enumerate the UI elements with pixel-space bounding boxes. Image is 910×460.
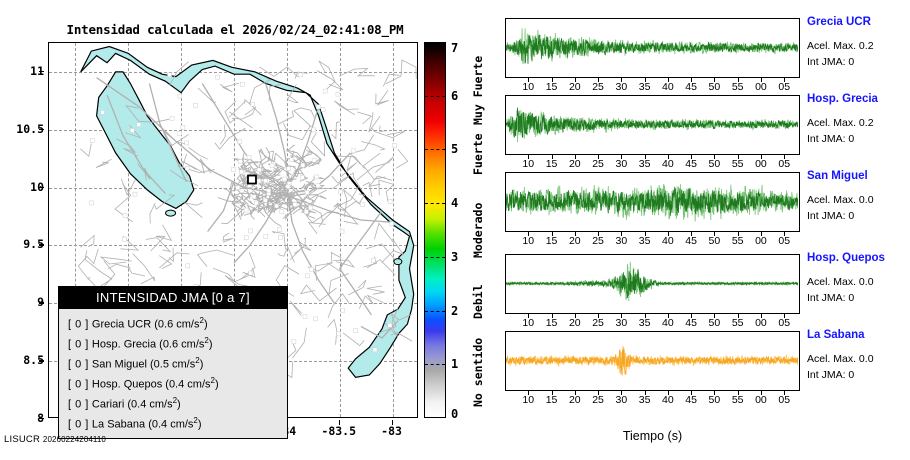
colorbar-tick <box>425 203 445 204</box>
jma-row-bracket: [ 0 ] <box>68 399 89 411</box>
seismogram-time-tick: 10 <box>522 317 534 329</box>
jma-row-bracket: [ 0 ] <box>68 359 89 371</box>
seismogram-time-tick: 50 <box>709 394 721 406</box>
seismogram-time-tick: 10 <box>522 235 534 247</box>
seismogram-time-tick: 55 <box>732 394 744 406</box>
footer: LISUCR 20260224204110 <box>4 434 106 445</box>
jma-row-value: (0.4 cm/s <box>127 399 172 411</box>
jma-row-station: San Miguel <box>89 359 150 371</box>
seismogram-time-tick: 20 <box>569 394 581 406</box>
seismogram-row: 101520253035404550550005Grecia UCRAcel. … <box>495 18 910 88</box>
station-max-acceleration: Acel. Max. 0.2 <box>807 117 874 129</box>
seismogram-time-tick: 20 <box>569 317 581 329</box>
station-name[interactable]: San Miguel <box>807 170 868 182</box>
seismogram-row: 101520253035404550550005La SabanaAcel. M… <box>495 331 910 401</box>
jma-row-close: ) <box>204 319 208 331</box>
colorbar-tick-label: 1 <box>451 357 458 371</box>
seismogram-time-tick: 50 <box>709 235 721 247</box>
footer-timestamp: 20260224204110 <box>43 435 106 444</box>
seismogram-time-tick: 10 <box>522 158 534 170</box>
seismogram-time-axis: 101520253035404550550005 <box>505 314 800 330</box>
seismogram-time-tick: 00 <box>755 394 767 406</box>
jma-row-value: (0.6 cm/s <box>154 319 199 331</box>
seismogram-time-axis: 101520253035404550550005 <box>505 232 800 248</box>
seismogram-xlabel: Tiempo (s) <box>505 429 800 443</box>
seismogram-time-tick: 35 <box>639 81 651 93</box>
seismogram-time-tick: 40 <box>662 158 674 170</box>
seismogram-time-tick: 15 <box>546 317 558 329</box>
jma-row-bracket: [ 0 ] <box>68 339 89 351</box>
jma-row-close: ) <box>209 339 213 351</box>
seismogram-time-tick: 50 <box>709 317 721 329</box>
map-x-tick: -83.5 <box>321 424 356 438</box>
footer-agency: LISUCR <box>4 434 40 445</box>
colorbar-category-label: Debil <box>471 284 485 319</box>
seismogram-time-tick: 00 <box>755 317 767 329</box>
jma-legend-row: [ 0 ] La Sabana (0.4 cm/s2) <box>68 413 287 433</box>
seismogram-time-tick: 40 <box>662 235 674 247</box>
seismogram-time-tick: 55 <box>732 317 744 329</box>
seismogram-time-tick: 25 <box>592 394 604 406</box>
seismogram-time-tick: 45 <box>685 394 697 406</box>
seismogram-panel: Tiempo (s) 101520253035404550550005Greci… <box>495 14 910 444</box>
seismogram-time-tick: 25 <box>592 235 604 247</box>
seismogram-time-tick: 05 <box>778 235 790 247</box>
station-jma-intensity: Int JMA: 0 <box>807 369 854 381</box>
station-name[interactable]: La Sabana <box>807 329 865 341</box>
seismogram-time-tick: 30 <box>615 394 627 406</box>
jma-row-station: Grecia UCR <box>89 319 154 331</box>
seismogram-time-tick: 40 <box>662 317 674 329</box>
seismogram-time-tick: 30 <box>615 235 627 247</box>
colorbar-tick-label: 2 <box>451 304 458 318</box>
seismogram-time-tick: 15 <box>546 158 558 170</box>
colorbar-category-label: Moderado <box>471 202 485 257</box>
colorbar-tick-label: 4 <box>451 196 458 210</box>
station-max-acceleration: Acel. Max. 0.0 <box>807 276 874 288</box>
colorbar-tick <box>425 311 445 312</box>
seismogram-time-tick: 20 <box>569 81 581 93</box>
seismogram-time-tick: 05 <box>778 317 790 329</box>
seismogram-trace[interactable] <box>505 18 800 78</box>
seismogram-time-tick: 15 <box>546 394 558 406</box>
seismogram-time-tick: 15 <box>546 235 558 247</box>
station-jma-intensity: Int JMA: 0 <box>807 210 854 222</box>
jma-row-bracket: [ 0 ] <box>68 379 89 391</box>
seismogram-time-tick: 55 <box>732 235 744 247</box>
seismogram-time-tick: 40 <box>662 394 674 406</box>
map-x-tick: -83 <box>381 424 402 438</box>
jma-row-station: Hosp. Grecia <box>89 339 159 351</box>
station-jma-intensity: Int JMA: 0 <box>807 133 854 145</box>
station-name[interactable]: Hosp. Grecia <box>807 93 878 105</box>
seismogram-time-tick: 05 <box>778 158 790 170</box>
seismogram-time-tick: 25 <box>592 317 604 329</box>
seismogram-time-tick: 45 <box>685 81 697 93</box>
seismogram-trace[interactable] <box>505 331 800 391</box>
colorbar-tick-label: 5 <box>451 142 458 156</box>
jma-row-station: Cariari <box>89 399 128 411</box>
seismogram-time-tick: 20 <box>569 235 581 247</box>
colorbar-gradient <box>424 42 446 418</box>
intensity-colorbar: 76543210Muy FuerteFuerteModeradoDebilNo … <box>424 42 448 418</box>
seismogram-time-tick: 30 <box>615 81 627 93</box>
colorbar-tick-label: 7 <box>451 41 458 55</box>
jma-row-station: La Sabana <box>89 419 148 431</box>
page-title: Intensidad calculada el 2026/02/24_02:41… <box>45 22 425 37</box>
station-jma-intensity: Int JMA: 0 <box>807 56 854 68</box>
map-y-axis: 1110.5109.598.58 <box>0 42 44 418</box>
jma-row-close: ) <box>177 399 181 411</box>
seismogram-time-tick: 35 <box>639 317 651 329</box>
seismogram-time-tick: 45 <box>685 235 697 247</box>
station-jma-intensity: Int JMA: 0 <box>807 292 854 304</box>
colorbar-tick-label: 0 <box>451 407 458 421</box>
seismogram-time-tick: 15 <box>546 81 558 93</box>
seismogram-time-axis: 101520253035404550550005 <box>505 78 800 94</box>
seismogram-time-tick: 10 <box>522 394 534 406</box>
seismogram-time-tick: 55 <box>732 81 744 93</box>
seismogram-trace[interactable] <box>505 95 800 155</box>
station-max-acceleration: Acel. Max. 0.2 <box>807 40 874 52</box>
station-name[interactable]: Grecia UCR <box>807 16 871 28</box>
jma-row-value: (0.6 cm/s <box>159 339 204 351</box>
jma-legend: INTENSIDAD JMA [0 a 7] [ 0 ] Grecia UCR … <box>58 286 288 439</box>
seismogram-time-tick: 30 <box>615 158 627 170</box>
jma-row-close: ) <box>215 379 219 391</box>
jma-legend-row: [ 0 ] Grecia UCR (0.6 cm/s2) <box>68 313 287 333</box>
seismogram-trace[interactable] <box>505 172 800 232</box>
seismogram-row: 101520253035404550550005San MiguelAcel. … <box>495 172 910 242</box>
colorbar-tick <box>425 257 445 258</box>
jma-legend-row: [ 0 ] San Miguel (0.5 cm/s2) <box>68 353 287 373</box>
seismogram-time-tick: 00 <box>755 235 767 247</box>
seismogram-trace[interactable] <box>505 254 800 314</box>
colorbar-tick <box>425 96 445 97</box>
jma-row-close: ) <box>198 419 202 431</box>
jma-legend-row: [ 0 ] Cariari (0.4 cm/s2) <box>68 393 287 413</box>
seismogram-time-tick: 00 <box>755 81 767 93</box>
jma-row-close: ) <box>200 359 204 371</box>
colorbar-category-label: Muy Fuerte <box>471 56 485 125</box>
jma-row-value: (0.4 cm/s <box>148 419 193 431</box>
jma-row-value: (0.5 cm/s <box>150 359 195 371</box>
seismogram-time-tick: 05 <box>778 81 790 93</box>
colorbar-category-label: No sentido <box>471 338 485 407</box>
colorbar-tick-label: 6 <box>451 89 458 103</box>
seismogram-time-tick: 05 <box>778 394 790 406</box>
station-max-acceleration: Acel. Max. 0.0 <box>807 194 874 206</box>
colorbar-tick-label: 3 <box>451 250 458 264</box>
seismogram-time-tick: 40 <box>662 81 674 93</box>
seismogram-time-tick: 25 <box>592 158 604 170</box>
seismogram-time-tick: 30 <box>615 317 627 329</box>
jma-row-station: Hosp. Quepos <box>89 379 165 391</box>
seismogram-row: 101520253035404550550005Hosp. GreciaAcel… <box>495 95 910 165</box>
seismogram-time-tick: 35 <box>639 235 651 247</box>
jma-legend-row: [ 0 ] Hosp. Quepos (0.4 cm/s2) <box>68 373 287 393</box>
jma-row-bracket: [ 0 ] <box>68 319 89 331</box>
jma-row-value: (0.4 cm/s <box>165 379 210 391</box>
jma-legend-title: INTENSIDAD JMA [0 a 7] <box>59 287 287 309</box>
seismogram-time-tick: 25 <box>592 81 604 93</box>
seismogram-time-tick: 20 <box>569 158 581 170</box>
seismogram-time-axis: 101520253035404550550005 <box>505 391 800 407</box>
station-max-acceleration: Acel. Max. 0.0 <box>807 353 874 365</box>
colorbar-tick <box>425 364 445 365</box>
seismogram-time-tick: 55 <box>732 158 744 170</box>
seismogram-time-tick: 00 <box>755 158 767 170</box>
seismogram-time-tick: 35 <box>639 394 651 406</box>
colorbar-tick <box>425 149 445 150</box>
jma-legend-list: [ 0 ] Grecia UCR (0.6 cm/s2)[ 0 ] Hosp. … <box>59 309 287 438</box>
colorbar-category-label: Fuerte <box>471 134 485 176</box>
seismogram-time-tick: 45 <box>685 158 697 170</box>
seismogram-time-tick: 50 <box>709 158 721 170</box>
station-name[interactable]: Hosp. Quepos <box>807 252 885 264</box>
seismogram-time-axis: 101520253035404550550005 <box>505 155 800 171</box>
jma-legend-row: [ 0 ] Hosp. Grecia (0.6 cm/s2) <box>68 333 287 353</box>
seismogram-row: 101520253035404550550005Hosp. QueposAcel… <box>495 254 910 324</box>
jma-row-bracket: [ 0 ] <box>68 419 89 431</box>
seismogram-time-tick: 10 <box>522 81 534 93</box>
seismogram-time-tick: 45 <box>685 317 697 329</box>
seismogram-time-tick: 50 <box>709 81 721 93</box>
seismogram-time-tick: 35 <box>639 158 651 170</box>
